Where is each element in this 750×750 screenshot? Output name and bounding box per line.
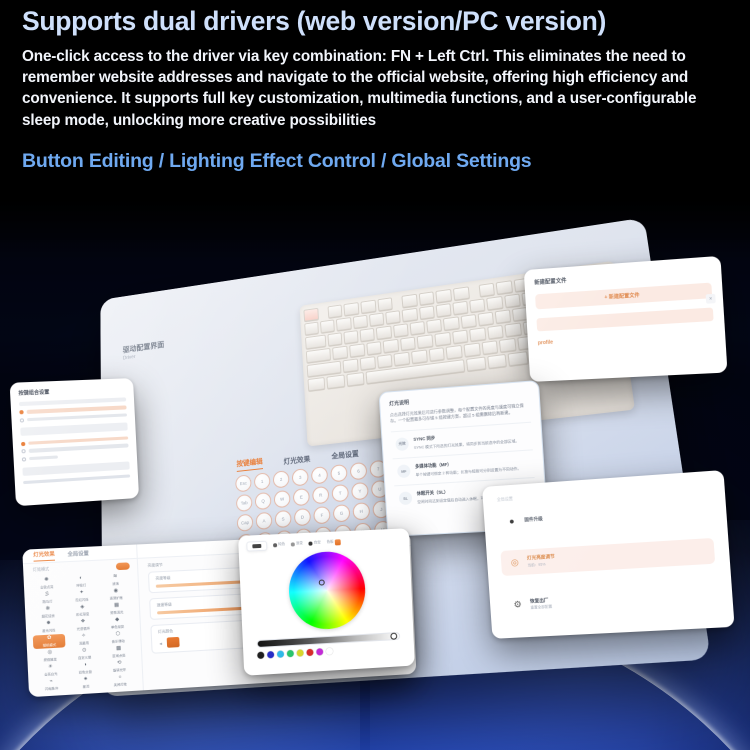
dialog-hint-line (19, 397, 126, 406)
effect-item-2[interactable]: ≋波浪 (99, 573, 132, 588)
check-label (29, 455, 58, 460)
key-circle[interactable]: A (256, 512, 273, 531)
checkbox-icon[interactable] (21, 449, 25, 453)
firmware-icon: ● (506, 515, 518, 527)
effect-item-23[interactable]: ○关闭灯效 (104, 673, 137, 688)
screen-tab-2[interactable]: 全局设置 (331, 449, 359, 462)
color-swatch-1[interactable] (267, 651, 274, 658)
page-description: One-click access to the driver via key c… (22, 46, 734, 130)
effect-icon: ⌁ (50, 679, 53, 684)
effect-icon: ◐ (79, 576, 82, 581)
effect-item-17[interactable]: ▩区域点亮 (102, 644, 135, 659)
effect-label: 全键点亮 (40, 583, 53, 589)
effect-icon: ✺ (44, 578, 49, 583)
effect-item-9[interactable]: ✹星光闪烁 (32, 619, 65, 634)
effect-label: 星光闪烁 (42, 627, 55, 633)
effect-item-13[interactable]: ✧流星雨 (67, 632, 100, 647)
color-swatch-0[interactable] (257, 651, 264, 658)
chevron-left-icon[interactable]: ◄ (158, 640, 162, 645)
effect-icon: ◉ (113, 589, 118, 594)
effect-item-3[interactable]: 彡跑马灯 (31, 590, 64, 605)
tab-custom-label: 自定 (314, 540, 321, 545)
effect-item-1[interactable]: ◐呼吸灯 (65, 574, 98, 589)
effect-item-0[interactable]: ✺全键点亮 (30, 576, 63, 591)
notice-badge: SL (399, 492, 413, 506)
effect-item-5[interactable]: ◉涟漪扩散 (100, 587, 133, 602)
color-swatch-7[interactable] (326, 647, 333, 654)
effect-icon: ◈ (80, 605, 84, 610)
effect-icon: ⬡ (115, 632, 120, 637)
radio-label (27, 406, 127, 414)
effect-item-11[interactable]: ◆单色常亮 (101, 616, 134, 631)
color-picker-tabs[interactable]: 纯色 渐变 自定 色板 (246, 534, 402, 551)
key-circle[interactable]: 6 (350, 462, 368, 481)
profile-card[interactable]: 新建配置文件 + 新建配置文件 profile × (524, 256, 728, 382)
key-circle[interactable]: S (275, 510, 292, 529)
effect-label: 区域点亮 (112, 652, 125, 658)
effect-item-19[interactable]: ◑双色交替 (69, 661, 102, 676)
effect-label: 旋转光环 (113, 666, 126, 672)
effect-icon: ≋ (113, 575, 118, 580)
key-circle[interactable]: 3 (292, 468, 309, 486)
effect-icon: ✦ (79, 591, 84, 596)
effect-toggle-pill[interactable] (116, 562, 130, 570)
settings-row-sub: 重置全部配置 (530, 605, 552, 611)
effect-icon: 彡 (44, 592, 50, 597)
tab-gradient2-label: 渐变 (296, 541, 303, 546)
effect-list-column: 灯效模式 ✺全键点亮◐呼吸灯≋波浪彡跑马灯✦霓虹闪烁◉涟漪扩散❋烟花绽放◈彩虹渐… (22, 544, 144, 697)
screen-tab-1[interactable]: 灯光效果 (283, 454, 310, 467)
effect-label: 随机模式 (43, 641, 56, 647)
value-slider-knob[interactable] (390, 632, 397, 639)
radio-icon[interactable] (19, 410, 23, 414)
effect-icon: ✧ (81, 634, 86, 639)
gear-icon: ⚙ (512, 599, 524, 611)
close-icon[interactable]: × (706, 294, 716, 304)
effect-label: 星河 (83, 683, 90, 689)
effect-icon: ✷ (83, 677, 88, 682)
radio-label (27, 413, 127, 421)
key-circle[interactable]: Cap (237, 514, 254, 532)
notice-badge: MF (397, 465, 411, 479)
effect-item-21[interactable]: ⌁闪电脉冲 (35, 677, 68, 692)
tab-gradient2[interactable]: 渐变 (291, 541, 303, 547)
page-title: Supports dual drivers (web version/PC ve… (22, 6, 734, 37)
current-color-swatch[interactable] (167, 637, 180, 648)
color-wheel[interactable] (287, 550, 367, 631)
effect-label: 流星雨 (79, 640, 89, 646)
key-circle[interactable]: Y (351, 482, 369, 501)
tab-custom[interactable]: 自定 (309, 540, 321, 546)
screen-app-title: 驱动配置界面 (123, 340, 165, 356)
checkbox-icon[interactable] (22, 457, 26, 461)
dot-icon (273, 543, 277, 547)
checkbox-icon[interactable] (21, 441, 25, 445)
effect-label: 光谱循环 (77, 625, 90, 631)
dialog-footnote (23, 474, 130, 484)
effect-label: 跑马灯 (42, 598, 52, 604)
key-circle[interactable]: G (333, 504, 351, 523)
screen-app-subtitle: Driver (123, 354, 136, 361)
header: Supports dual drivers (web version/PC ve… (22, 6, 734, 173)
add-profile-button[interactable]: + 新建配置文件 (535, 283, 712, 310)
grid-icon (335, 539, 341, 545)
color-swatch-2[interactable] (277, 650, 284, 657)
dot-icon (291, 542, 295, 546)
effect-label: 波浪 (112, 580, 119, 585)
effect-icon: ◑ (83, 663, 86, 668)
key-circle[interactable]: E (293, 488, 310, 507)
effect-icon: ❋ (45, 607, 50, 612)
effect-label: 全亮白光 (44, 670, 57, 676)
page-subtitle: Button Editing / Lighting Effect Control… (22, 150, 734, 173)
key-circle[interactable]: R (312, 486, 330, 505)
key-circle[interactable]: 4 (311, 466, 328, 485)
effect-icon: ✹ (46, 621, 51, 626)
effect-item-16[interactable]: ⊙自定义层 (68, 646, 101, 661)
key-circle[interactable]: F (313, 506, 331, 525)
effect-icon: ◆ (115, 618, 119, 623)
profile-name-label: profile (538, 330, 715, 346)
effect-icon: ✿ (47, 636, 52, 641)
effect-icon: ○ (118, 675, 121, 680)
apply-all-button[interactable] (22, 461, 129, 476)
screen-tab-0[interactable]: 按键编辑 (236, 456, 263, 471)
dot-icon (309, 542, 313, 546)
notice-badge: 光效 (395, 438, 409, 452)
effect-item-7[interactable]: ◈彩虹渐变 (66, 603, 99, 618)
effect-item-4[interactable]: ✦霓虹闪烁 (65, 589, 98, 604)
key-circle[interactable]: Tab (236, 494, 253, 512)
brightness-icon: ◎ (509, 557, 521, 569)
add-profile-label: + 新建配置文件 (604, 292, 640, 301)
key-circle[interactable]: 2 (273, 470, 290, 488)
effect-label: 彩虹渐变 (76, 611, 89, 617)
effect-icon: ⊙ (82, 648, 87, 653)
effect-item-20[interactable]: ⟲旋转光环 (103, 659, 136, 674)
key-circle[interactable]: H (352, 502, 370, 521)
effect-icon: ⟲ (117, 661, 122, 666)
radio-icon[interactable] (20, 418, 24, 422)
tab-solid-label: 纯色 (278, 542, 285, 547)
effect-label: 单色常亮 (111, 623, 124, 629)
tab-gradient[interactable] (246, 541, 267, 551)
dialog-title: 按键组合设置 (18, 385, 126, 397)
global-settings-card[interactable]: 全局设置 ● 固件升级 ◎ 灯光亮度调节 当前：95% ⚙ 恢复出厂 重置全部配… (482, 470, 735, 639)
effect-item-12[interactable]: ✿随机模式 (33, 634, 66, 649)
effect-label: 涟漪扩散 (110, 594, 123, 600)
effect-item-14[interactable]: ⬡音乐律动 (102, 630, 135, 645)
color-wheel-cursor[interactable] (318, 579, 325, 586)
tab-palette[interactable]: 色板 (326, 539, 341, 546)
settings-row-title: 灯光亮度调节 (527, 554, 555, 562)
effect-label: 自定义层 (78, 654, 91, 660)
effect-label: 按键触发 (43, 656, 56, 662)
color-swatch-3[interactable] (287, 649, 294, 656)
key-circle[interactable]: W (274, 490, 291, 509)
effect-icon: ❖ (80, 620, 85, 625)
gradient-bar-icon (252, 544, 261, 548)
color-swatch-5[interactable] (306, 648, 313, 655)
effect-item-22[interactable]: ✷星河 (69, 675, 102, 690)
effect-icon: ▦ (114, 603, 119, 608)
effect-item-10[interactable]: ❖光谱循环 (67, 618, 100, 633)
key-circle[interactable]: D (294, 508, 311, 527)
color-picker-panel[interactable]: 纯色 渐变 自定 色板 (238, 528, 415, 676)
key-circle[interactable]: 1 (254, 472, 271, 490)
effect-item-15[interactable]: ◎按键触发 (33, 648, 66, 663)
effect-label: 闪电脉冲 (45, 685, 58, 691)
effect-label: 关闭灯效 (114, 681, 127, 687)
effect-label: 霓虹闪烁 (75, 596, 88, 602)
effect-icon: ▩ (116, 647, 121, 652)
effect-item-8[interactable]: ▦矩阵流光 (100, 601, 133, 616)
settings-row-title: 恢复出厂 (530, 597, 552, 604)
color-swatch-4[interactable] (297, 649, 304, 656)
effect-label: 呼吸灯 (76, 582, 86, 588)
profile-strip[interactable] (536, 307, 713, 331)
effect-item-18[interactable]: ☀全亮白光 (34, 663, 67, 678)
key-circle[interactable]: Q (255, 492, 272, 510)
confirm-button[interactable] (20, 422, 127, 435)
key-circle[interactable]: 5 (330, 464, 348, 483)
settings-row-sub: 当前：95% (527, 561, 555, 568)
tab-solid[interactable]: 纯色 (273, 542, 285, 548)
effect-label: 烟花绽放 (41, 612, 54, 618)
color-swatch-6[interactable] (316, 648, 323, 655)
effect-grid[interactable]: ✺全键点亮◐呼吸灯≋波浪彡跑马灯✦霓虹闪烁◉涟漪扩散❋烟花绽放◈彩虹渐变▦矩阵流… (30, 573, 136, 693)
effect-icon: ◎ (47, 650, 52, 655)
effect-label: 矩阵流光 (110, 609, 123, 615)
radio-option-1[interactable] (20, 413, 127, 422)
effect-label: 双色交替 (79, 668, 92, 674)
effect-label: 音乐律动 (112, 638, 125, 644)
key-circle[interactable]: T (331, 484, 349, 503)
effect-item-6[interactable]: ❋烟花绽放 (31, 605, 64, 620)
key-combination-dialog[interactable]: 按键组合设置 (10, 378, 140, 506)
effect-icon: ☀ (48, 665, 53, 670)
key-circle[interactable]: Esc (235, 474, 252, 492)
tab-palette-label: 色板 (327, 540, 334, 545)
settings-row-title: 固件升级 (524, 516, 543, 523)
